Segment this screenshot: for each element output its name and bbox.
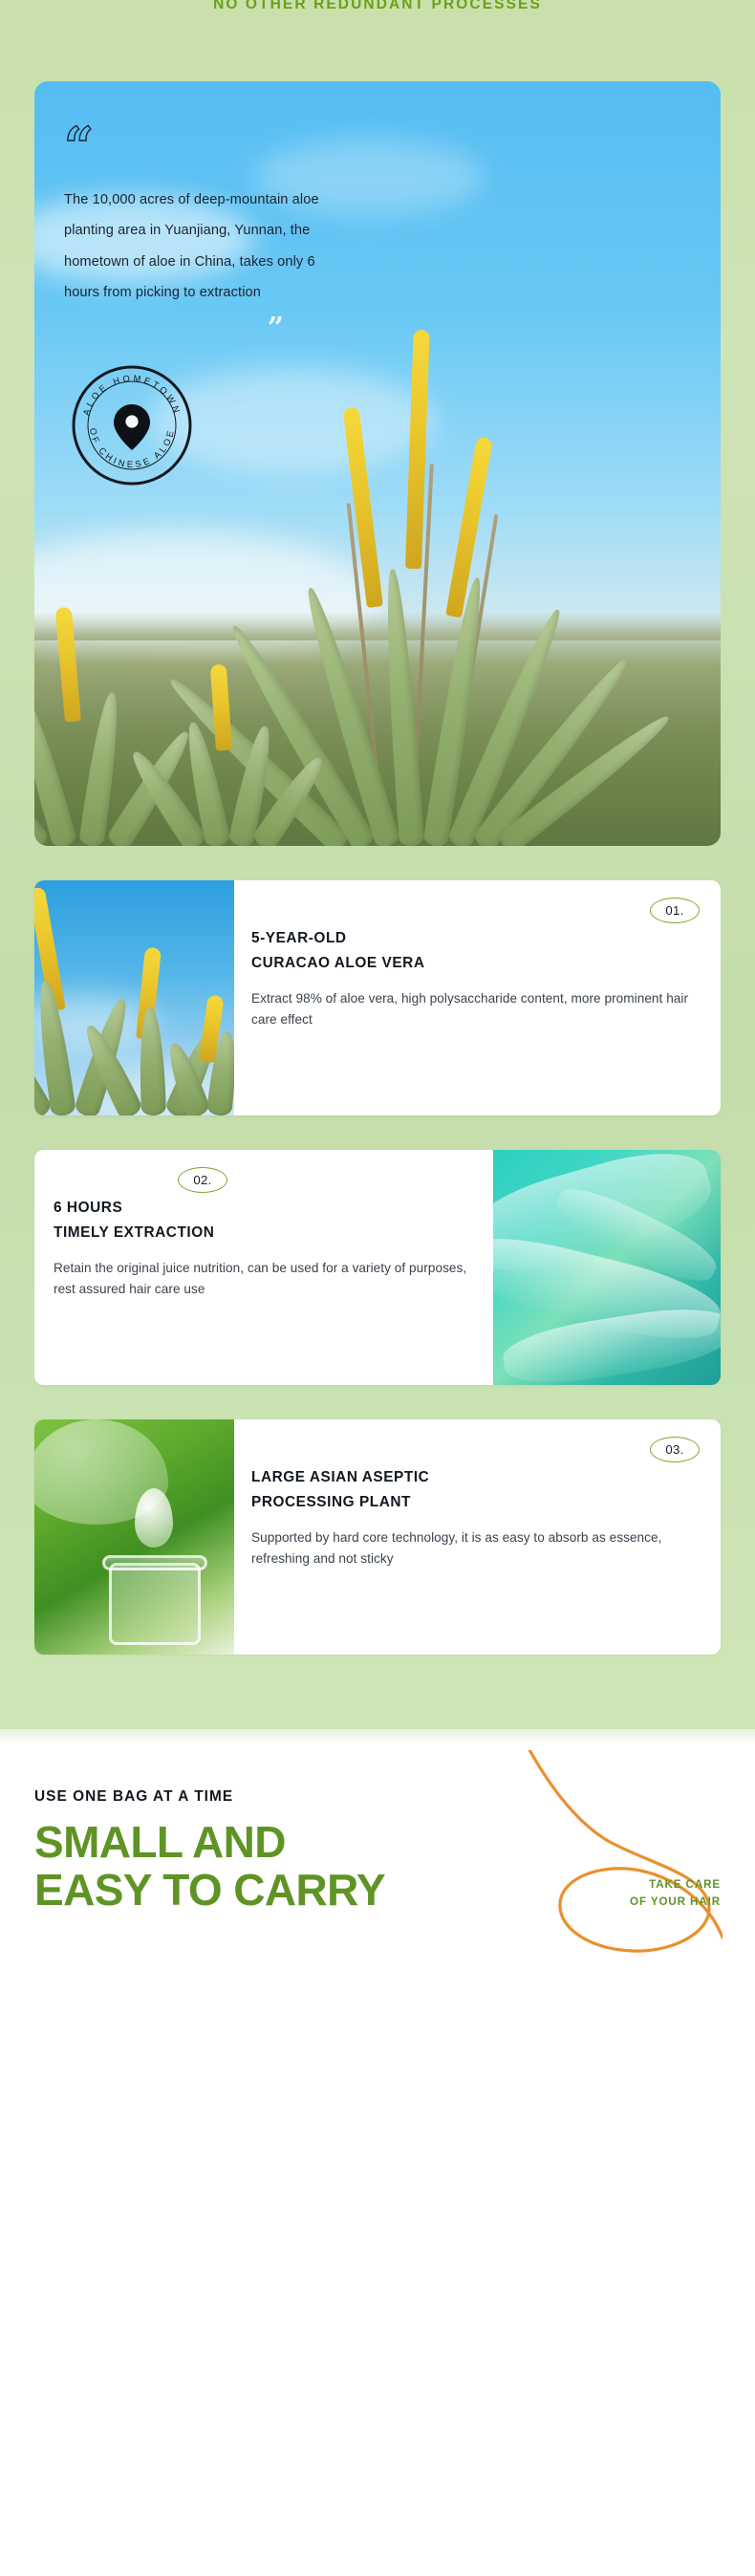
quote-open-icon: “ bbox=[64, 131, 322, 169]
footer-tagline-line2: OF YOUR HAIR bbox=[630, 1894, 721, 1911]
feature-title-line1: 6 HOURS bbox=[54, 1196, 476, 1221]
feature-description-03: Supported by hard core technology, it is… bbox=[251, 1527, 701, 1569]
feature-title-line2: PROCESSING PLANT bbox=[251, 1490, 701, 1515]
footer-kicker: USE ONE BAG AT A TIME bbox=[34, 1788, 721, 1806]
feature-body-02: 02. 6 HOURS TIMELY EXTRACTION Retain the… bbox=[34, 1150, 493, 1385]
feature-body-03: 03. LARGE ASIAN ASEPTIC PROCESSING PLANT… bbox=[234, 1419, 721, 1655]
aloe-hometown-stamp-badge: ALOE HOMETOWN OF CHINESE ALOE bbox=[71, 364, 193, 487]
feature-card-03[interactable]: 03. LARGE ASIAN ASEPTIC PROCESSING PLANT… bbox=[34, 1419, 721, 1655]
feature-description-02: Retain the original juice nutrition, can… bbox=[54, 1258, 476, 1300]
footer-tagline: TAKE CARE OF YOUR HAIR bbox=[630, 1876, 721, 1911]
feature-title-03: LARGE ASIAN ASEPTIC PROCESSING PLANT bbox=[251, 1465, 701, 1515]
feature-description-01: Extract 98% of aloe vera, high polysacch… bbox=[251, 988, 701, 1030]
section-fade-divider bbox=[0, 1729, 755, 1744]
green-section: NO OTHER REDUNDANT PROCESSES bbox=[0, 0, 755, 1729]
feature-number-badge-03: 03. bbox=[650, 1437, 700, 1462]
location-pin-icon bbox=[114, 404, 150, 450]
feature-image-03 bbox=[34, 1419, 234, 1655]
feature-image-01 bbox=[34, 880, 234, 1115]
feature-title-line1: LARGE ASIAN ASEPTIC bbox=[251, 1465, 701, 1490]
feature-title-01: 5-YEAR-OLD CURACAO ALOE VERA bbox=[251, 926, 701, 976]
feature-title-02: 6 HOURS TIMELY EXTRACTION bbox=[54, 1196, 476, 1245]
hero-quote-text: The 10,000 acres of deep-mountain aloe p… bbox=[64, 184, 322, 309]
feature-card-02[interactable]: 02. 6 HOURS TIMELY EXTRACTION Retain the… bbox=[34, 1150, 721, 1385]
feature-title-line2: TIMELY EXTRACTION bbox=[54, 1221, 476, 1245]
feature-title-line2: CURACAO ALOE VERA bbox=[251, 951, 701, 976]
feature-number-badge-01: 01. bbox=[650, 898, 700, 923]
footer-headline-line2: EASY TO CARRY bbox=[34, 1867, 721, 1915]
hero-card: “ The 10,000 acres of deep-mountain aloe… bbox=[34, 81, 721, 846]
quote-close-icon: ” bbox=[64, 314, 284, 343]
hero-quote-block: “ The 10,000 acres of deep-mountain aloe… bbox=[64, 131, 322, 343]
eyebrow-strip: NO OTHER REDUNDANT PROCESSES bbox=[0, 0, 755, 29]
feature-body-01: 01. 5-YEAR-OLD CURACAO ALOE VERA Extract… bbox=[234, 880, 721, 1115]
section-eyebrow: NO OTHER REDUNDANT PROCESSES bbox=[213, 0, 542, 13]
infographic-page: NO OTHER REDUNDANT PROCESSES bbox=[0, 0, 755, 2045]
footer-headline-line1: SMALL AND bbox=[34, 1819, 721, 1867]
footer-tagline-line1: TAKE CARE bbox=[630, 1876, 721, 1894]
footer-section: USE ONE BAG AT A TIME SMALL AND EASY TO … bbox=[0, 1729, 755, 2045]
feature-image-02 bbox=[493, 1150, 721, 1385]
feature-card-01[interactable]: 01. 5-YEAR-OLD CURACAO ALOE VERA Extract… bbox=[34, 880, 721, 1115]
footer-headline: SMALL AND EASY TO CARRY bbox=[34, 1819, 721, 1914]
footer-content: USE ONE BAG AT A TIME SMALL AND EASY TO … bbox=[0, 1788, 755, 1914]
feature-title-line1: 5-YEAR-OLD bbox=[251, 926, 701, 951]
feature-number-badge-02: 02. bbox=[178, 1167, 227, 1193]
